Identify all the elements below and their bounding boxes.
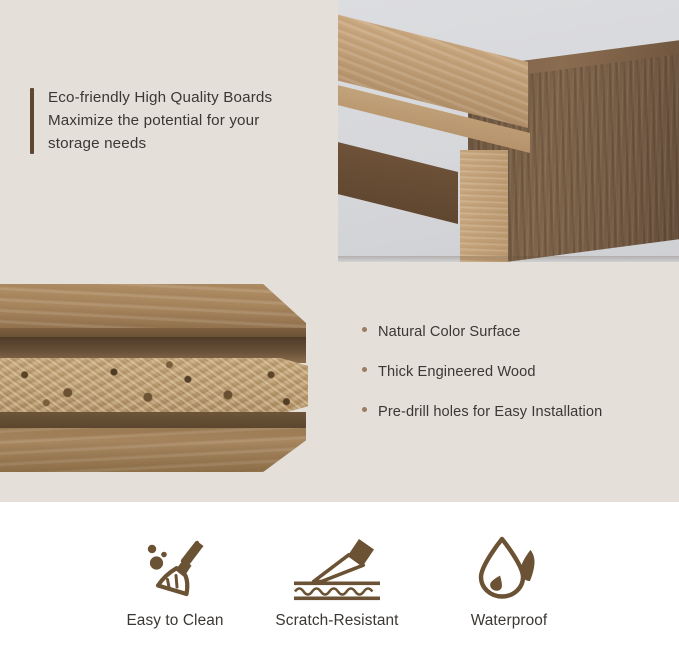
headline-text: Eco-friendly High Quality Boards Maximiz…	[48, 86, 272, 155]
photo-bottom-shadow	[338, 256, 679, 262]
feature-label: Easy to Clean	[126, 612, 223, 630]
furniture-corner-photo	[338, 0, 679, 262]
list-item: Natural Color Surface	[362, 324, 662, 340]
feature-scratch-resistant: Scratch-Resistant	[251, 530, 423, 630]
list-item: Pre-drill holes for Easy Installation	[362, 404, 662, 420]
list-item: Thick Engineered Wood	[362, 364, 662, 380]
headline-block: Eco-friendly High Quality Boards Maximiz…	[30, 86, 320, 155]
accent-bar	[30, 88, 34, 154]
feature-label: Waterproof	[471, 612, 548, 630]
product-infographic: Eco-friendly High Quality Boards Maximiz…	[0, 0, 679, 647]
bottom-veneer-board	[0, 428, 306, 472]
photo-oak-vertical-post	[460, 150, 508, 262]
feature-label: Scratch-Resistant	[275, 612, 398, 630]
bullet-dot-icon	[362, 407, 367, 412]
broom-icon	[139, 530, 211, 606]
top-veneer-board	[0, 284, 306, 334]
bullet-label: Natural Color Surface	[378, 324, 520, 340]
bullet-dot-icon	[362, 367, 367, 372]
board-cross-section-illustration	[0, 262, 330, 482]
knife-on-surface-icon	[284, 530, 390, 606]
feature-waterproof: Waterproof	[423, 530, 595, 630]
feature-strip: Easy to Clean Scratch-Resistant	[0, 502, 679, 647]
water-droplet-icon	[472, 530, 546, 606]
bullet-label: Pre-drill holes for Easy Installation	[378, 404, 602, 420]
feature-bullet-list: Natural Color Surface Thick Engineered W…	[362, 324, 662, 444]
bullet-dot-icon	[362, 327, 367, 332]
particleboard-core	[0, 358, 308, 414]
feature-easy-to-clean: Easy to Clean	[89, 530, 261, 630]
top-veneer-board-edge	[0, 328, 306, 337]
bullet-label: Thick Engineered Wood	[378, 364, 536, 380]
